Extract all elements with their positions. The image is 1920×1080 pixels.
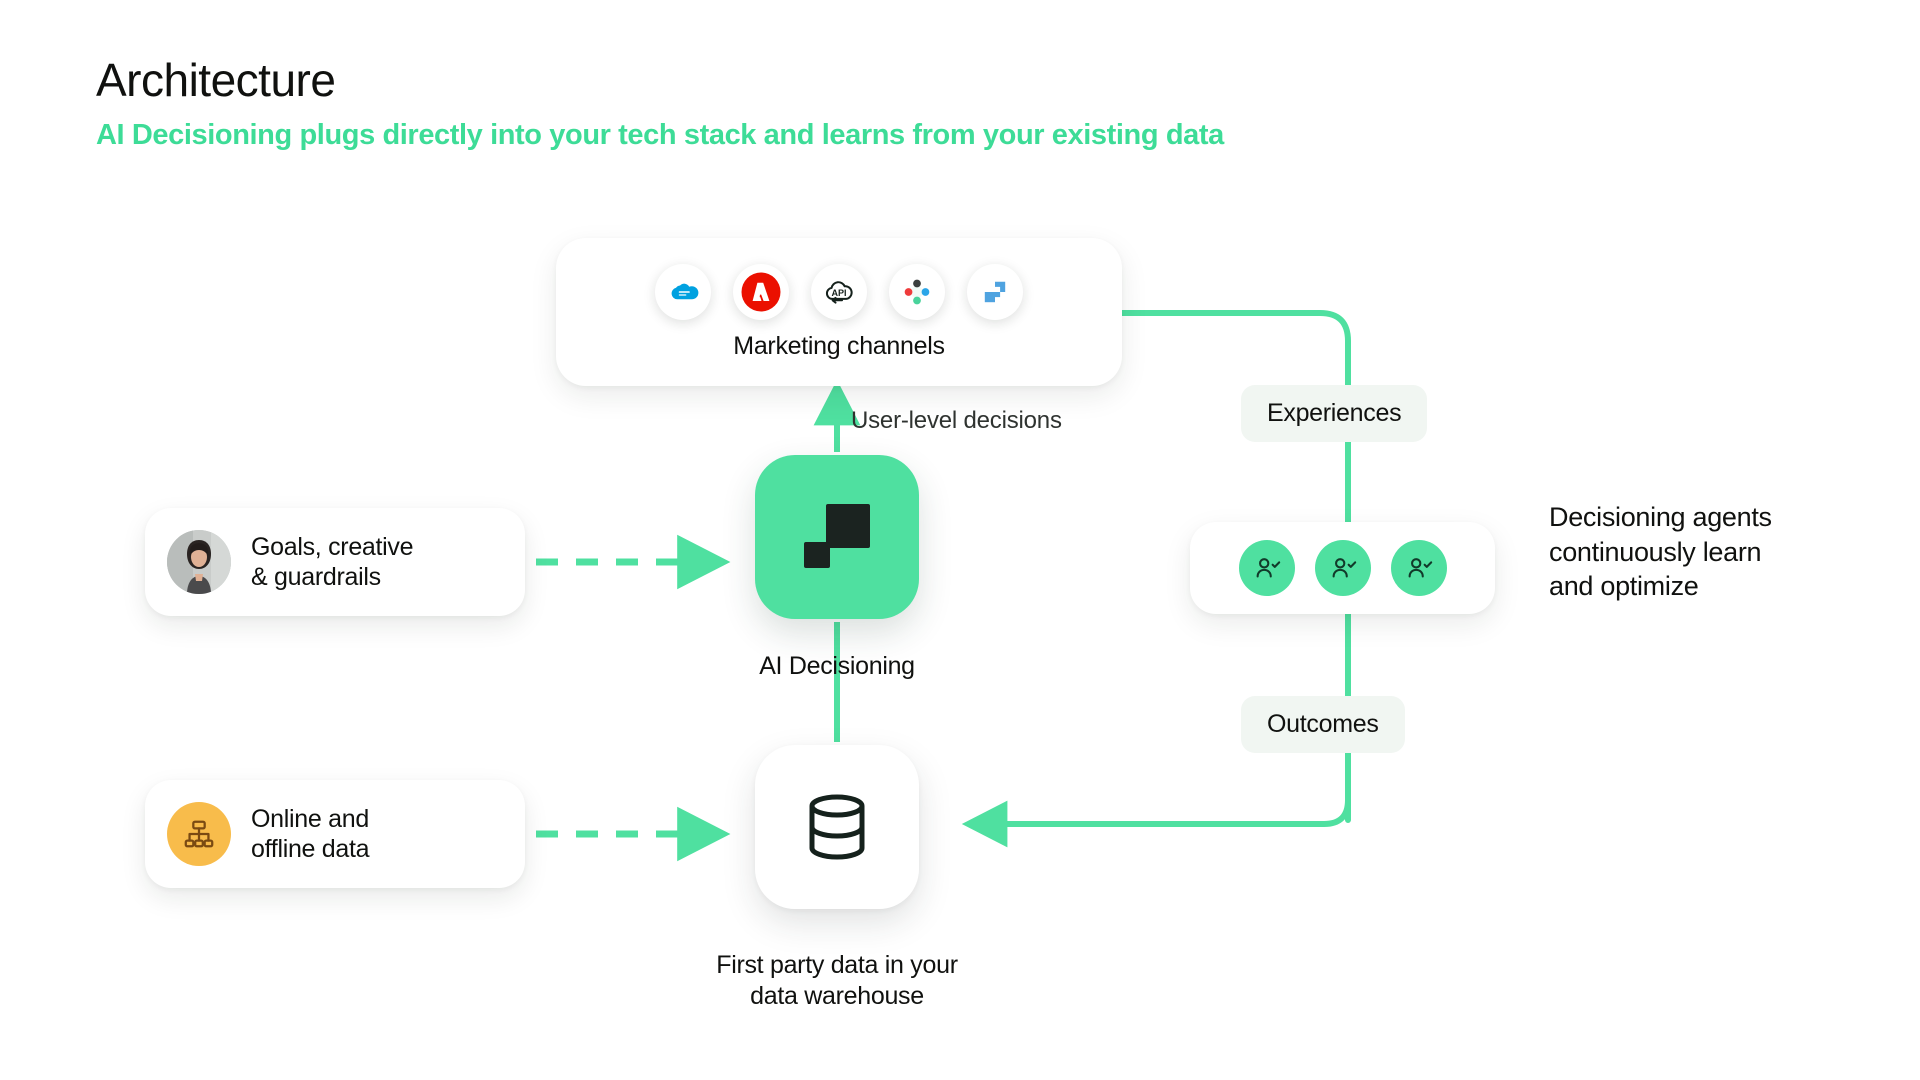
data-warehouse-label: First party data in your data warehouse [600,950,1074,1011]
input-card-goals-text: Goals, creative & guardrails [251,532,413,593]
page-subtitle: AI Decisioning plugs directly into your … [96,118,1224,153]
user-check-icon[interactable] [1391,540,1447,596]
agents-note-line1: Decisioning agents [1549,500,1879,535]
agents-note-line2: continuously learn [1549,535,1879,570]
connector-rail-to-warehouse [975,790,1348,824]
stage-chip-outcomes[interactable]: Outcomes [1241,696,1405,753]
decisioning-agents-card[interactable] [1190,522,1495,614]
adobe-icon[interactable] [733,264,789,320]
input-card-offline-data-text: Online and offline data [251,804,369,865]
ai-decisioning-label: AI Decisioning [660,652,1014,681]
user-check-icon[interactable] [1315,540,1371,596]
page-title: Architecture [96,56,1224,104]
input-card-goals-line2: & guardrails [251,562,413,593]
warehouse-label-line2: data warehouse [600,981,1074,1012]
architecture-diagram: Architecture AI Decisioning plugs direct… [0,0,1920,1080]
ai-decisioning-logo-icon [794,494,880,580]
input-card-offline-data[interactable]: Online and offline data [145,780,525,888]
database-icon [796,786,878,868]
agents-note-line3: and optimize [1549,569,1879,604]
person-avatar-photo [167,530,231,594]
data-warehouse-node[interactable] [755,745,919,909]
ai-decisioning-node[interactable] [755,455,919,619]
header: Architecture AI Decisioning plugs direct… [96,56,1224,153]
user-level-decisions-label: User-level decisions [851,407,1062,435]
user-check-icon[interactable] [1239,540,1295,596]
sitemap-hierarchy-icon [167,802,231,866]
api-cloud-icon[interactable]: API [811,264,867,320]
salesforce-icon[interactable] [655,264,711,320]
input-card-data-line1: Online and [251,804,369,835]
warehouse-label-line1: First party data in your [600,950,1074,981]
input-card-goals-line1: Goals, creative [251,532,413,563]
input-card-goals[interactable]: Goals, creative & guardrails [145,508,525,616]
channel-icon-row: API [655,264,1023,320]
decisioning-agents-note: Decisioning agents continuously learn an… [1549,500,1879,604]
braze-icon[interactable] [967,264,1023,320]
segment-icon[interactable] [889,264,945,320]
svg-text:API: API [831,287,846,297]
stage-chip-experiences[interactable]: Experiences [1241,385,1427,442]
marketing-channels-card[interactable]: API [556,238,1122,386]
marketing-channels-label: Marketing channels [733,332,944,361]
input-card-data-line2: offline data [251,834,369,865]
